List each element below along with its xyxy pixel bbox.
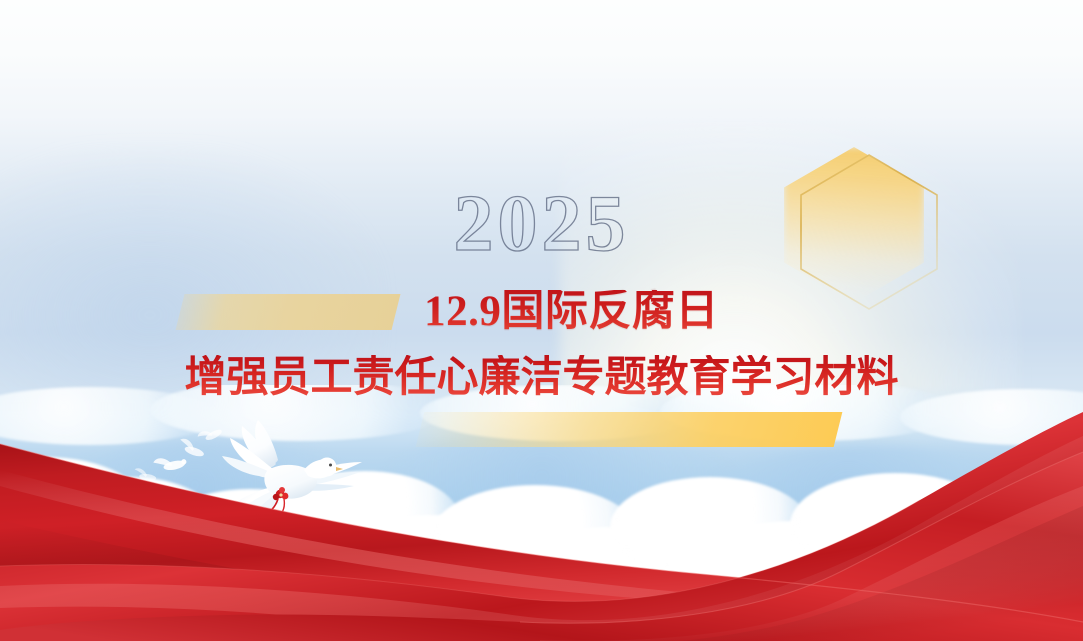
gold-banner-lower xyxy=(416,412,843,447)
page-subtitle: 增强员工责任心廉洁专题教育学习材料 xyxy=(0,355,1083,401)
year-label: 2025 xyxy=(0,184,1083,264)
poster-canvas: 2025 12.9国际反腐日 增强员工责任心廉洁专题教育学习材料 xyxy=(0,0,1083,641)
page-title: 12.9国际反腐日 xyxy=(0,290,1083,333)
peace-dove-icon xyxy=(196,418,376,536)
peace-dove-small-icon xyxy=(131,464,161,486)
